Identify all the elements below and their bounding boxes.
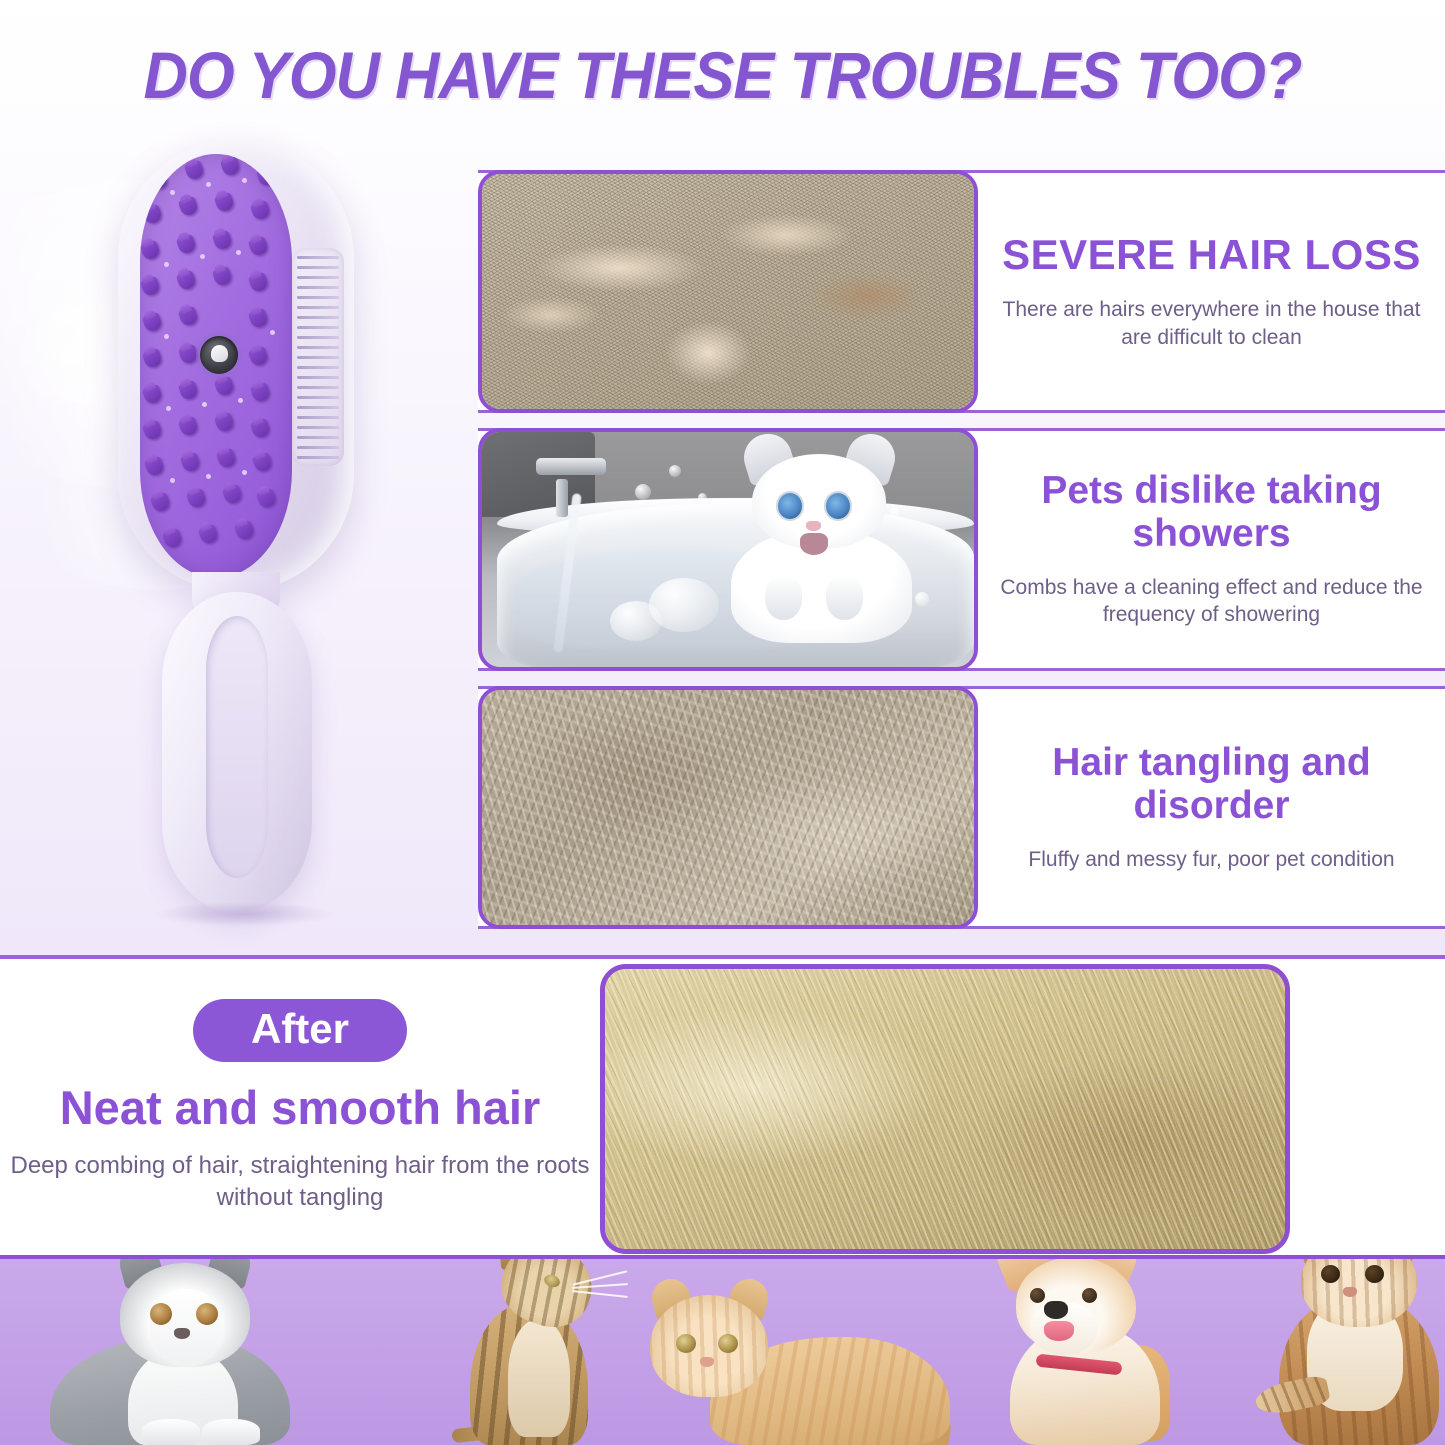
trouble-title: Hair tangling and disorder bbox=[990, 742, 1433, 828]
trouble-image-shower bbox=[478, 428, 978, 671]
trouble-row: Pets dislike taking showers Combs have a… bbox=[478, 428, 1445, 671]
infographic-canvas: DO YOU HAVE THESE TROUBLES TOO? bbox=[0, 0, 1445, 1445]
white-cat bbox=[713, 446, 929, 643]
pet-orange-cat bbox=[640, 1295, 950, 1445]
after-section: After Neat and smooth hair Deep combing … bbox=[0, 955, 1445, 1255]
after-image-smooth-fur bbox=[600, 964, 1290, 1254]
after-badge: After bbox=[193, 999, 407, 1062]
trouble-row: Hair tangling and disorder Fluffy and me… bbox=[478, 686, 1445, 929]
trouble-image-tangling bbox=[478, 686, 978, 929]
after-desc: Deep combing of hair, straightening hair… bbox=[0, 1150, 600, 1215]
trouble-text: Hair tangling and disorder Fluffy and me… bbox=[978, 686, 1445, 929]
trouble-title: SEVERE HAIR LOSS bbox=[1002, 232, 1421, 278]
carpet-hair-photo bbox=[482, 174, 974, 409]
trouble-row: SEVERE HAIR LOSS There are hairs everywh… bbox=[478, 170, 1445, 413]
trouble-desc: There are hairs everywhere in the house … bbox=[990, 296, 1433, 351]
smooth-fur-photo bbox=[605, 969, 1285, 1249]
cat-bathtub-photo bbox=[482, 432, 974, 667]
trouble-text: SEVERE HAIR LOSS There are hairs everywh… bbox=[978, 170, 1445, 413]
trouble-image-hair-loss bbox=[478, 170, 978, 413]
pet-longhaired-ginger-cat bbox=[1255, 1255, 1445, 1445]
trouble-title: Pets dislike taking showers bbox=[990, 470, 1433, 556]
pets-strip bbox=[0, 1255, 1445, 1445]
pet-grey-white-cat bbox=[50, 1265, 310, 1445]
trouble-desc: Fluffy and messy fur, poor pet condition bbox=[1028, 846, 1394, 874]
pet-corgi-dog bbox=[970, 1255, 1200, 1445]
tangled-fur-photo bbox=[482, 690, 974, 925]
trouble-text: Pets dislike taking showers Combs have a… bbox=[978, 428, 1445, 671]
troubles-section: SEVERE HAIR LOSS There are hairs everywh… bbox=[0, 150, 1445, 940]
trouble-desc: Combs have a cleaning effect and reduce … bbox=[990, 574, 1433, 629]
after-headline: Neat and smooth hair bbox=[60, 1082, 541, 1134]
after-text-block: After Neat and smooth hair Deep combing … bbox=[0, 959, 600, 1255]
page-title: DO YOU HAVE THESE TROUBLES TOO? bbox=[51, 33, 1395, 117]
pet-tabby-cat bbox=[452, 1255, 632, 1445]
